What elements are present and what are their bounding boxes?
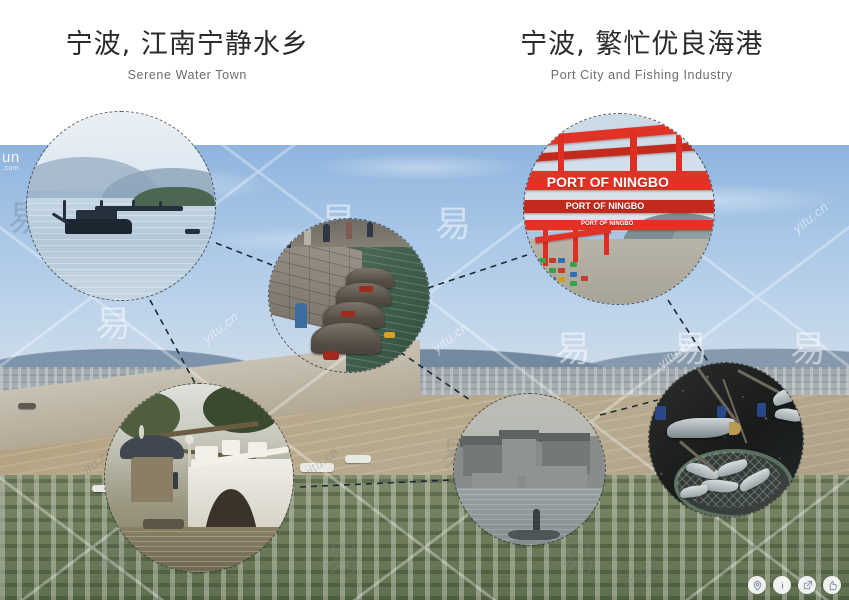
container xyxy=(539,258,546,263)
stone-bridge-scene xyxy=(105,384,293,572)
background-boat xyxy=(300,463,334,472)
net-blue-float xyxy=(655,406,666,420)
lake-treeline xyxy=(132,187,215,206)
container xyxy=(570,262,577,267)
net-blue-float xyxy=(717,406,726,418)
thumbs-up-icon[interactable] xyxy=(823,576,841,594)
serene-lake-scene xyxy=(27,112,215,300)
container xyxy=(570,272,577,277)
container xyxy=(558,258,565,263)
canal-pedestrian xyxy=(285,228,291,248)
page-title-right-cn: 宁波, 繁忙优良海港 xyxy=(415,28,849,62)
canal-boat xyxy=(311,323,381,354)
action-icon-bar[interactable] xyxy=(748,576,841,594)
canal-boat-hood xyxy=(315,323,377,341)
container xyxy=(549,268,556,273)
page-title-right-en: Port City and Fishing Industry xyxy=(415,68,849,82)
photo-circle-fishing-net[interactable] xyxy=(648,362,804,518)
canal-boats-scene xyxy=(269,219,429,372)
photo-circle-serene-lake[interactable] xyxy=(26,111,216,301)
container xyxy=(549,258,556,263)
edge-watermark-main: un xyxy=(2,149,20,166)
canal-pedestrian xyxy=(346,222,352,239)
background-boat xyxy=(18,403,36,409)
canal-boat-red-cushion xyxy=(359,286,373,292)
bridge-baluster xyxy=(222,440,241,455)
container xyxy=(570,281,577,286)
canal-boat-yellow-marker xyxy=(384,332,395,338)
crane-leg xyxy=(676,135,682,173)
lake-small-boat xyxy=(185,229,200,235)
canal-boat-hood xyxy=(349,268,391,280)
lake-boat-cabin xyxy=(76,210,117,219)
port-label-large: PORT OF NINGBO xyxy=(547,174,669,190)
photo-circle-canal-boats[interactable] xyxy=(268,218,430,373)
container xyxy=(558,277,565,282)
bridge-lamppost xyxy=(188,440,192,466)
titles-row: 宁波, 江南宁静水乡 Serene Water Town 宁波, 繁忙优良海港 … xyxy=(0,28,849,82)
lake-figure xyxy=(132,200,135,208)
port-scene: PORT OF NINGBO PORT OF NINGBO PORT OF NI… xyxy=(524,114,714,304)
bridge-baluster xyxy=(248,442,267,457)
bridge-baluster xyxy=(195,446,218,459)
old-village-scene xyxy=(454,394,605,545)
lake-boat-main xyxy=(65,219,133,234)
canal-boat-red-cushion xyxy=(341,311,355,317)
container xyxy=(581,276,588,281)
canal-pedestrian xyxy=(304,225,310,245)
container xyxy=(558,268,565,273)
bridge-moored-raft xyxy=(143,519,184,528)
title-block-right: 宁波, 繁忙优良海港 Port City and Fishing Industr… xyxy=(415,28,849,82)
page-title-left-en: Serene Water Town xyxy=(0,68,415,82)
pavilion-body xyxy=(131,457,172,502)
crane-leg xyxy=(558,133,564,175)
photo-circle-old-village[interactable] xyxy=(453,393,606,546)
page-title-left-cn: 宁波, 江南宁静水乡 xyxy=(0,28,415,62)
photo-circle-stone-bridge[interactable] xyxy=(104,383,294,573)
photo-circle-port-of-ningbo[interactable]: PORT OF NINGBO PORT OF NINGBO PORT OF NI… xyxy=(523,113,715,305)
container xyxy=(549,277,556,282)
location-pin-icon[interactable] xyxy=(748,576,766,594)
lake-figure xyxy=(100,200,103,208)
fishing-net-scene xyxy=(649,363,803,517)
edge-watermark: un .com xyxy=(2,150,20,172)
canal-seated-boatman xyxy=(295,303,308,327)
lake-figure xyxy=(159,201,162,209)
crane-leg xyxy=(630,131,637,177)
infographic-canvas: 易 易 易 易 易 易 易 易 易 易 易 易 易 易 yitu.cn yitu… xyxy=(0,0,849,600)
canal-pedestrian xyxy=(323,224,329,242)
lake-barge xyxy=(95,206,183,211)
canal-pedestrian xyxy=(367,222,373,237)
container xyxy=(539,268,546,273)
village-desaturate-overlay xyxy=(454,394,605,545)
background-boat xyxy=(345,455,371,463)
net-blue-float xyxy=(757,403,766,417)
title-block-left: 宁波, 江南宁静水乡 Serene Water Town xyxy=(0,28,415,82)
bridge-water xyxy=(105,527,293,572)
container xyxy=(539,277,546,282)
port-label-medium: PORT OF NINGBO xyxy=(566,201,645,211)
edge-watermark-sub: .com xyxy=(2,165,20,172)
canal-boat-red-bucket xyxy=(323,351,339,360)
bridge-pedestrian xyxy=(173,472,179,489)
info-icon[interactable] xyxy=(773,576,791,594)
share-icon[interactable] xyxy=(798,576,816,594)
